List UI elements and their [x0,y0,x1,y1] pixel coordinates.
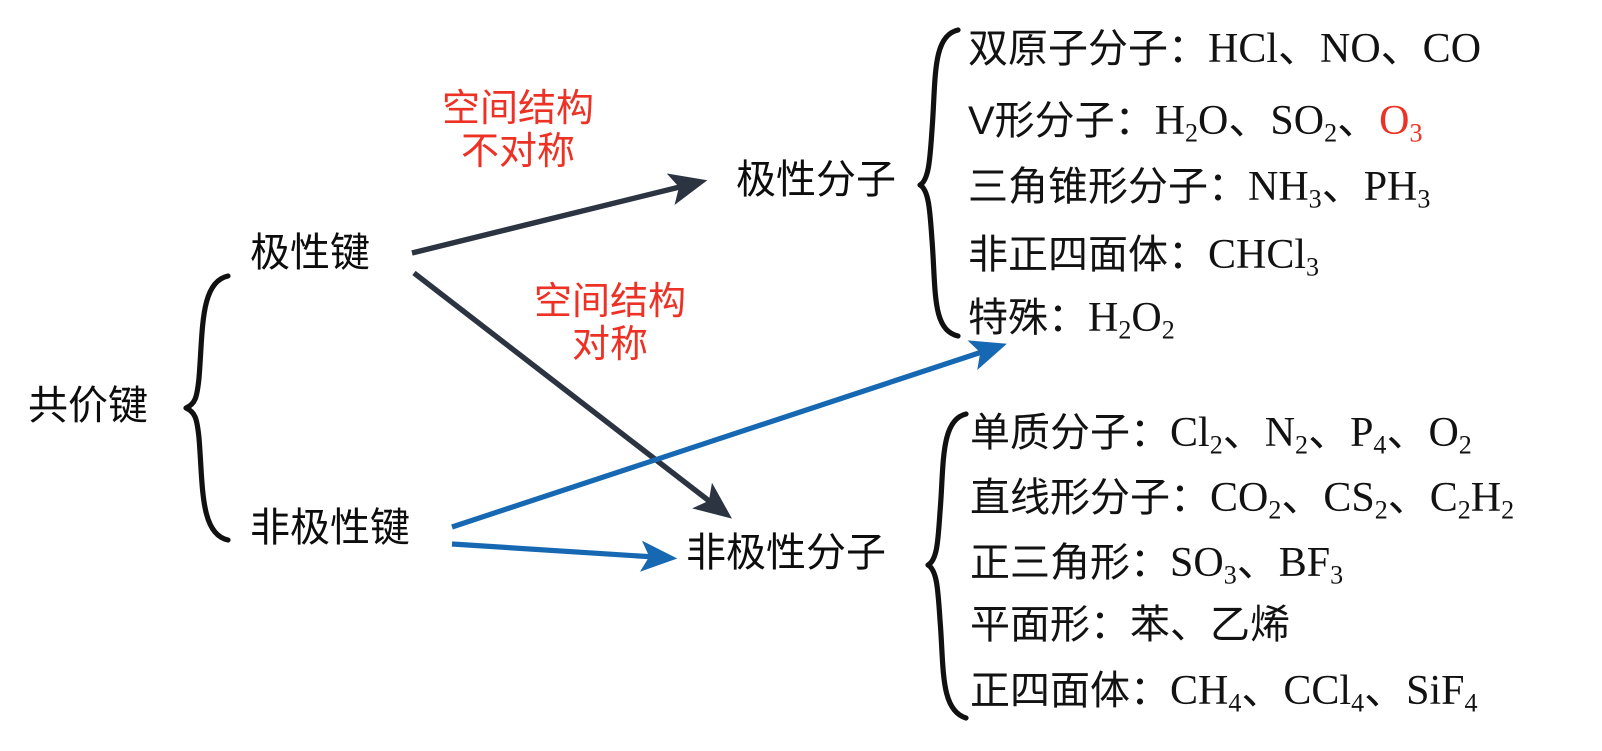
polar-list-item-3-label: 三角锥形分子： [968,165,1248,209]
nonpolar-list-item-3: 正三角形：SO3、BF3 [970,542,1343,588]
nonpolar-list-item-2: 直线形分子：CO2、CS2、C2H2 [970,477,1514,523]
polar-list-item-4-label: 非正四面体： [968,233,1208,277]
polar-list-item-2-formula: H2O、SO2、 [1155,98,1379,144]
nonpolar-list-item-5-formula: CH4、CCl4、SiF4 [1170,668,1478,714]
diagram-canvas: 共价键 极性键 非极性键 极性分子 非极性分子 空间结构 不对称 空间结构 对称… [0,0,1602,751]
polar-list-item-4-formula: CHCl3 [1208,232,1319,278]
polar-list-item-5-label: 特殊： [968,296,1088,340]
polar-list-item-1-label: 双原子分子： [968,27,1208,71]
edge-label-symmetric-line2: 对称 [510,324,710,367]
edge-polar-to-polar-molecule [412,182,700,253]
node-nonpolar-bond: 非极性键 [250,508,410,548]
polar-list-item-1-formula: HCl、NO、CO [1208,26,1481,72]
node-polar-molecule: 极性分子 [736,160,896,200]
edge-label-asymmetric-line2: 不对称 [408,131,628,174]
polar-list-item-3-formula: NH3、PH3 [1248,164,1430,210]
nonpolar-list-item-2-label: 直线形分子： [970,476,1210,520]
edge-label-symmetric-line1: 空间结构 [510,281,710,324]
nonpolar-list-item-1: 单质分子：Cl2、N2、P4、O2 [970,412,1472,458]
polar-list-item-5-formula: H2O2 [1088,295,1175,341]
nonpolar-list-item-3-formula: SO3、BF3 [1170,540,1343,586]
node-root: 共价键 [28,386,148,426]
polar-list-item-2: V形分子：H2O、SO2、O3 [968,100,1422,146]
polar-list-item-2-formula-highlight: O3 [1379,98,1422,144]
brace-polar-list [920,30,958,336]
edge-label-symmetric: 空间结构 对称 [510,281,710,366]
polar-list-item-4: 非正四面体：CHCl3 [968,234,1319,280]
nonpolar-list-item-4: 平面形：苯、乙烯 [970,605,1290,645]
nonpolar-list-item-4-items: 苯、乙烯 [1130,603,1290,647]
nonpolar-list-item-5: 正四面体：CH4、CCl4、SiF4 [970,670,1478,716]
nonpolar-list-item-1-formula: Cl2、N2、P4、O2 [1170,410,1472,456]
polar-list-item-5: 特殊：H2O2 [968,297,1175,343]
nonpolar-list-item-4-label: 平面形： [970,603,1130,647]
nonpolar-list-item-3-label: 正三角形： [970,541,1170,585]
edge-label-asymmetric: 空间结构 不对称 [408,88,628,173]
node-polar-bond: 极性键 [250,233,370,273]
polar-list-item-2-label: V形分子： [968,99,1155,143]
brace-root [186,276,228,540]
nonpolar-list-item-5-label: 正四面体： [970,669,1170,713]
brace-nonpolar-list [928,414,966,718]
edge-nonpolar-to-nonpolar-molecule [452,544,670,558]
polar-list-item-1: 双原子分子：HCl、NO、CO [968,28,1481,70]
nonpolar-list-item-1-label: 单质分子： [970,411,1170,455]
nonpolar-list-item-2-formula: CO2、CS2、C2H2 [1210,475,1514,521]
polar-list-item-3: 三角锥形分子：NH3、PH3 [968,166,1430,212]
edge-label-asymmetric-line1: 空间结构 [408,88,628,131]
edge-nonpolar-to-special [452,346,1000,527]
node-nonpolar-molecule: 非极性分子 [686,533,886,573]
